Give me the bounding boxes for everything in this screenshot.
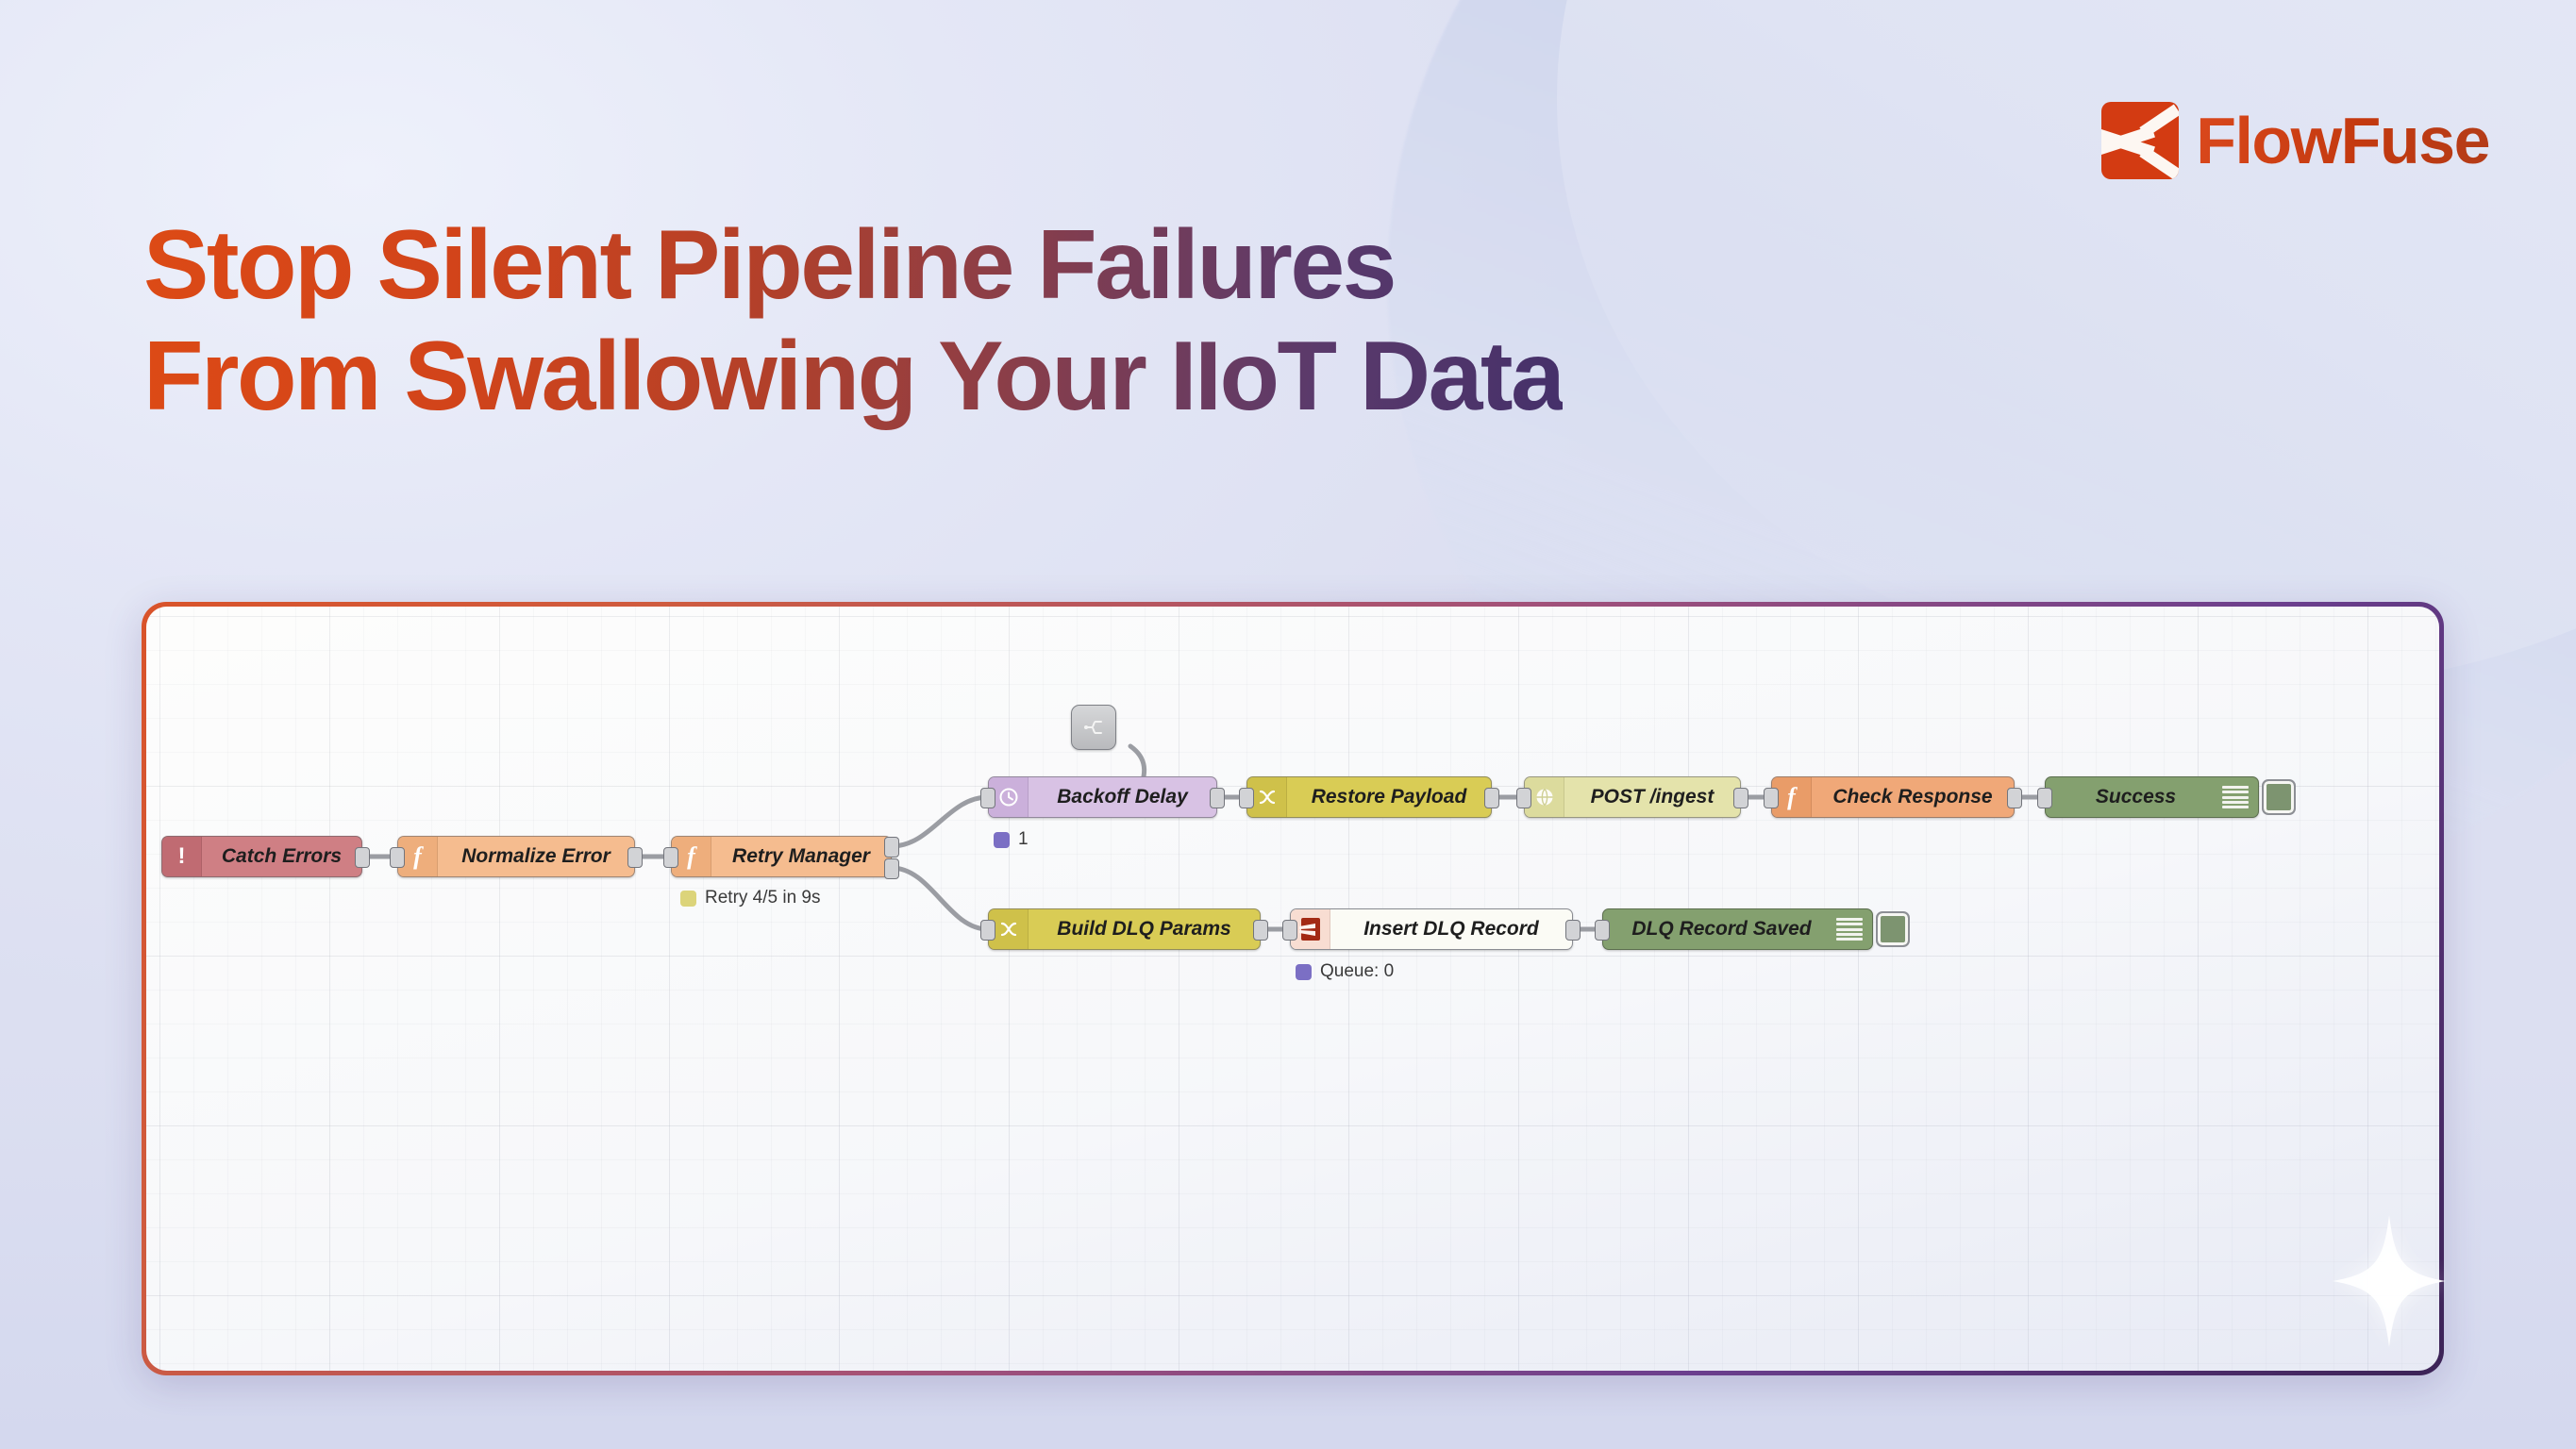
input-port[interactable] <box>663 847 678 868</box>
status-text: Retry 4/5 in 9s <box>705 888 821 908</box>
input-port[interactable] <box>1239 788 1254 808</box>
flowfuse-logo-icon <box>2101 102 2179 179</box>
node-label: Retry Manager <box>711 845 891 868</box>
node-catch-errors[interactable]: ! Catch Errors <box>161 836 362 877</box>
input-port[interactable] <box>390 847 405 868</box>
flow-wires <box>146 607 2439 1371</box>
output-port-2[interactable] <box>884 858 899 879</box>
output-port[interactable] <box>355 847 370 868</box>
status-insert-dlq-record: Queue: 0 <box>1296 961 1394 982</box>
output-port[interactable] <box>1565 920 1581 941</box>
status-dot <box>680 891 696 907</box>
flow-editor-canvas[interactable]: ! Catch Errors f Normalize Error f Retry… <box>146 607 2439 1371</box>
node-normalize-error[interactable]: f Normalize Error <box>397 836 635 877</box>
node-label: Restore Payload <box>1287 786 1491 808</box>
status-dot <box>1296 964 1312 980</box>
input-port[interactable] <box>980 920 995 941</box>
node-label: DLQ Record Saved <box>1603 918 1836 941</box>
output-port[interactable] <box>627 847 643 868</box>
output-port[interactable] <box>1210 788 1225 808</box>
status-backoff-delay: 1 <box>994 829 1029 850</box>
node-post-ingest[interactable]: POST /ingest <box>1524 776 1741 818</box>
status-text: Queue: 0 <box>1320 961 1394 982</box>
input-port[interactable] <box>1595 920 1610 941</box>
node-label: Check Response <box>1812 786 2014 808</box>
node-label: Insert DLQ Record <box>1330 918 1572 941</box>
node-label: Build DLQ Params <box>1029 918 1260 941</box>
debug-toggle-button[interactable] <box>1876 911 1910 947</box>
link-junction-icon <box>1082 716 1105 739</box>
status-text: 1 <box>1018 829 1029 850</box>
headline-line-1: Stop Silent Pipeline Failures <box>143 215 1563 323</box>
node-insert-dlq-record[interactable]: Insert DLQ Record <box>1290 908 1573 950</box>
node-dlq-record-saved[interactable]: DLQ Record Saved <box>1602 908 1873 950</box>
output-port-1[interactable] <box>884 837 899 858</box>
input-port[interactable] <box>1282 920 1297 941</box>
debug-icon <box>2222 786 2249 808</box>
input-port[interactable] <box>1516 788 1531 808</box>
node-retry-manager[interactable]: f Retry Manager <box>671 836 892 877</box>
junction-node[interactable] <box>1071 705 1116 750</box>
flow-editor-frame: ! Catch Errors f Normalize Error f Retry… <box>142 602 2444 1375</box>
node-backoff-delay[interactable]: Backoff Delay <box>988 776 1217 818</box>
node-label: Success <box>2046 786 2222 808</box>
flowfuse-logo: FlowFuse <box>2101 102 2489 179</box>
output-port[interactable] <box>2007 788 2022 808</box>
input-port[interactable] <box>1764 788 1779 808</box>
node-build-dlq-params[interactable]: Build DLQ Params <box>988 908 1261 950</box>
input-port[interactable] <box>2037 788 2052 808</box>
debug-icon <box>1836 918 1863 941</box>
node-restore-payload[interactable]: Restore Payload <box>1246 776 1492 818</box>
status-retry-manager: Retry 4/5 in 9s <box>680 888 821 908</box>
node-label: Normalize Error <box>438 845 634 868</box>
status-dot <box>994 832 1010 848</box>
node-label: Catch Errors <box>202 845 361 868</box>
node-label: POST /ingest <box>1564 786 1740 808</box>
flowfuse-wordmark: FlowFuse <box>2196 108 2489 174</box>
exclamation-icon: ! <box>162 837 202 876</box>
node-check-response[interactable]: f Check Response <box>1771 776 2015 818</box>
output-port[interactable] <box>1733 788 1748 808</box>
input-port[interactable] <box>980 788 995 808</box>
page-title: Stop Silent Pipeline Failures From Swall… <box>143 215 1563 434</box>
output-port[interactable] <box>1253 920 1268 941</box>
sparkle-decoration <box>2333 1215 2446 1347</box>
debug-toggle-button[interactable] <box>2262 779 2296 815</box>
node-success-debug[interactable]: Success <box>2045 776 2259 818</box>
headline-line-2: From Swallowing Your IIoT Data <box>143 326 1563 434</box>
node-label: Backoff Delay <box>1029 786 1216 808</box>
output-port[interactable] <box>1484 788 1499 808</box>
